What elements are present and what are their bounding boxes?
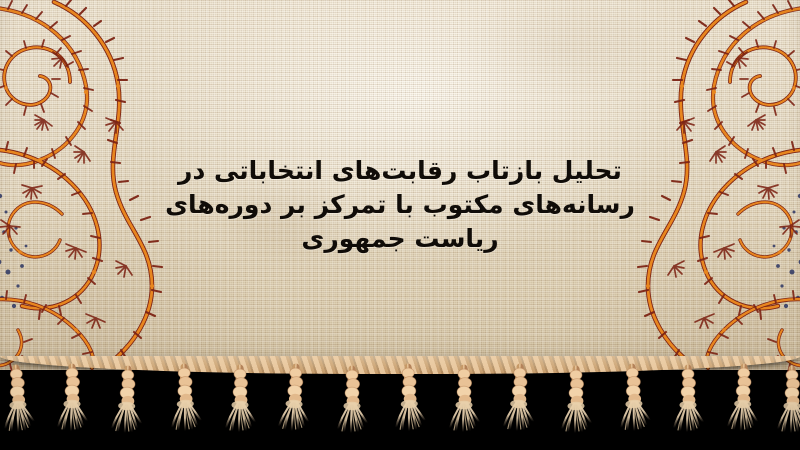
title-card-stage: تحلیل بازتاب رقابت‌های انتخاباتی در رسان… [0,0,800,450]
title-line-2: رسانه‌های مکتوب با تمرکز بر دوره‌های [0,188,800,222]
knotted-tassel-fringe [0,362,800,450]
title-line-1: تحلیل بازتاب رقابت‌های انتخاباتی در [0,154,800,188]
title-block: تحلیل بازتاب رقابت‌های انتخاباتی در رسان… [0,154,800,256]
tassel-row [2,366,800,433]
title-line-3: ریاست جمهوری [0,222,800,256]
